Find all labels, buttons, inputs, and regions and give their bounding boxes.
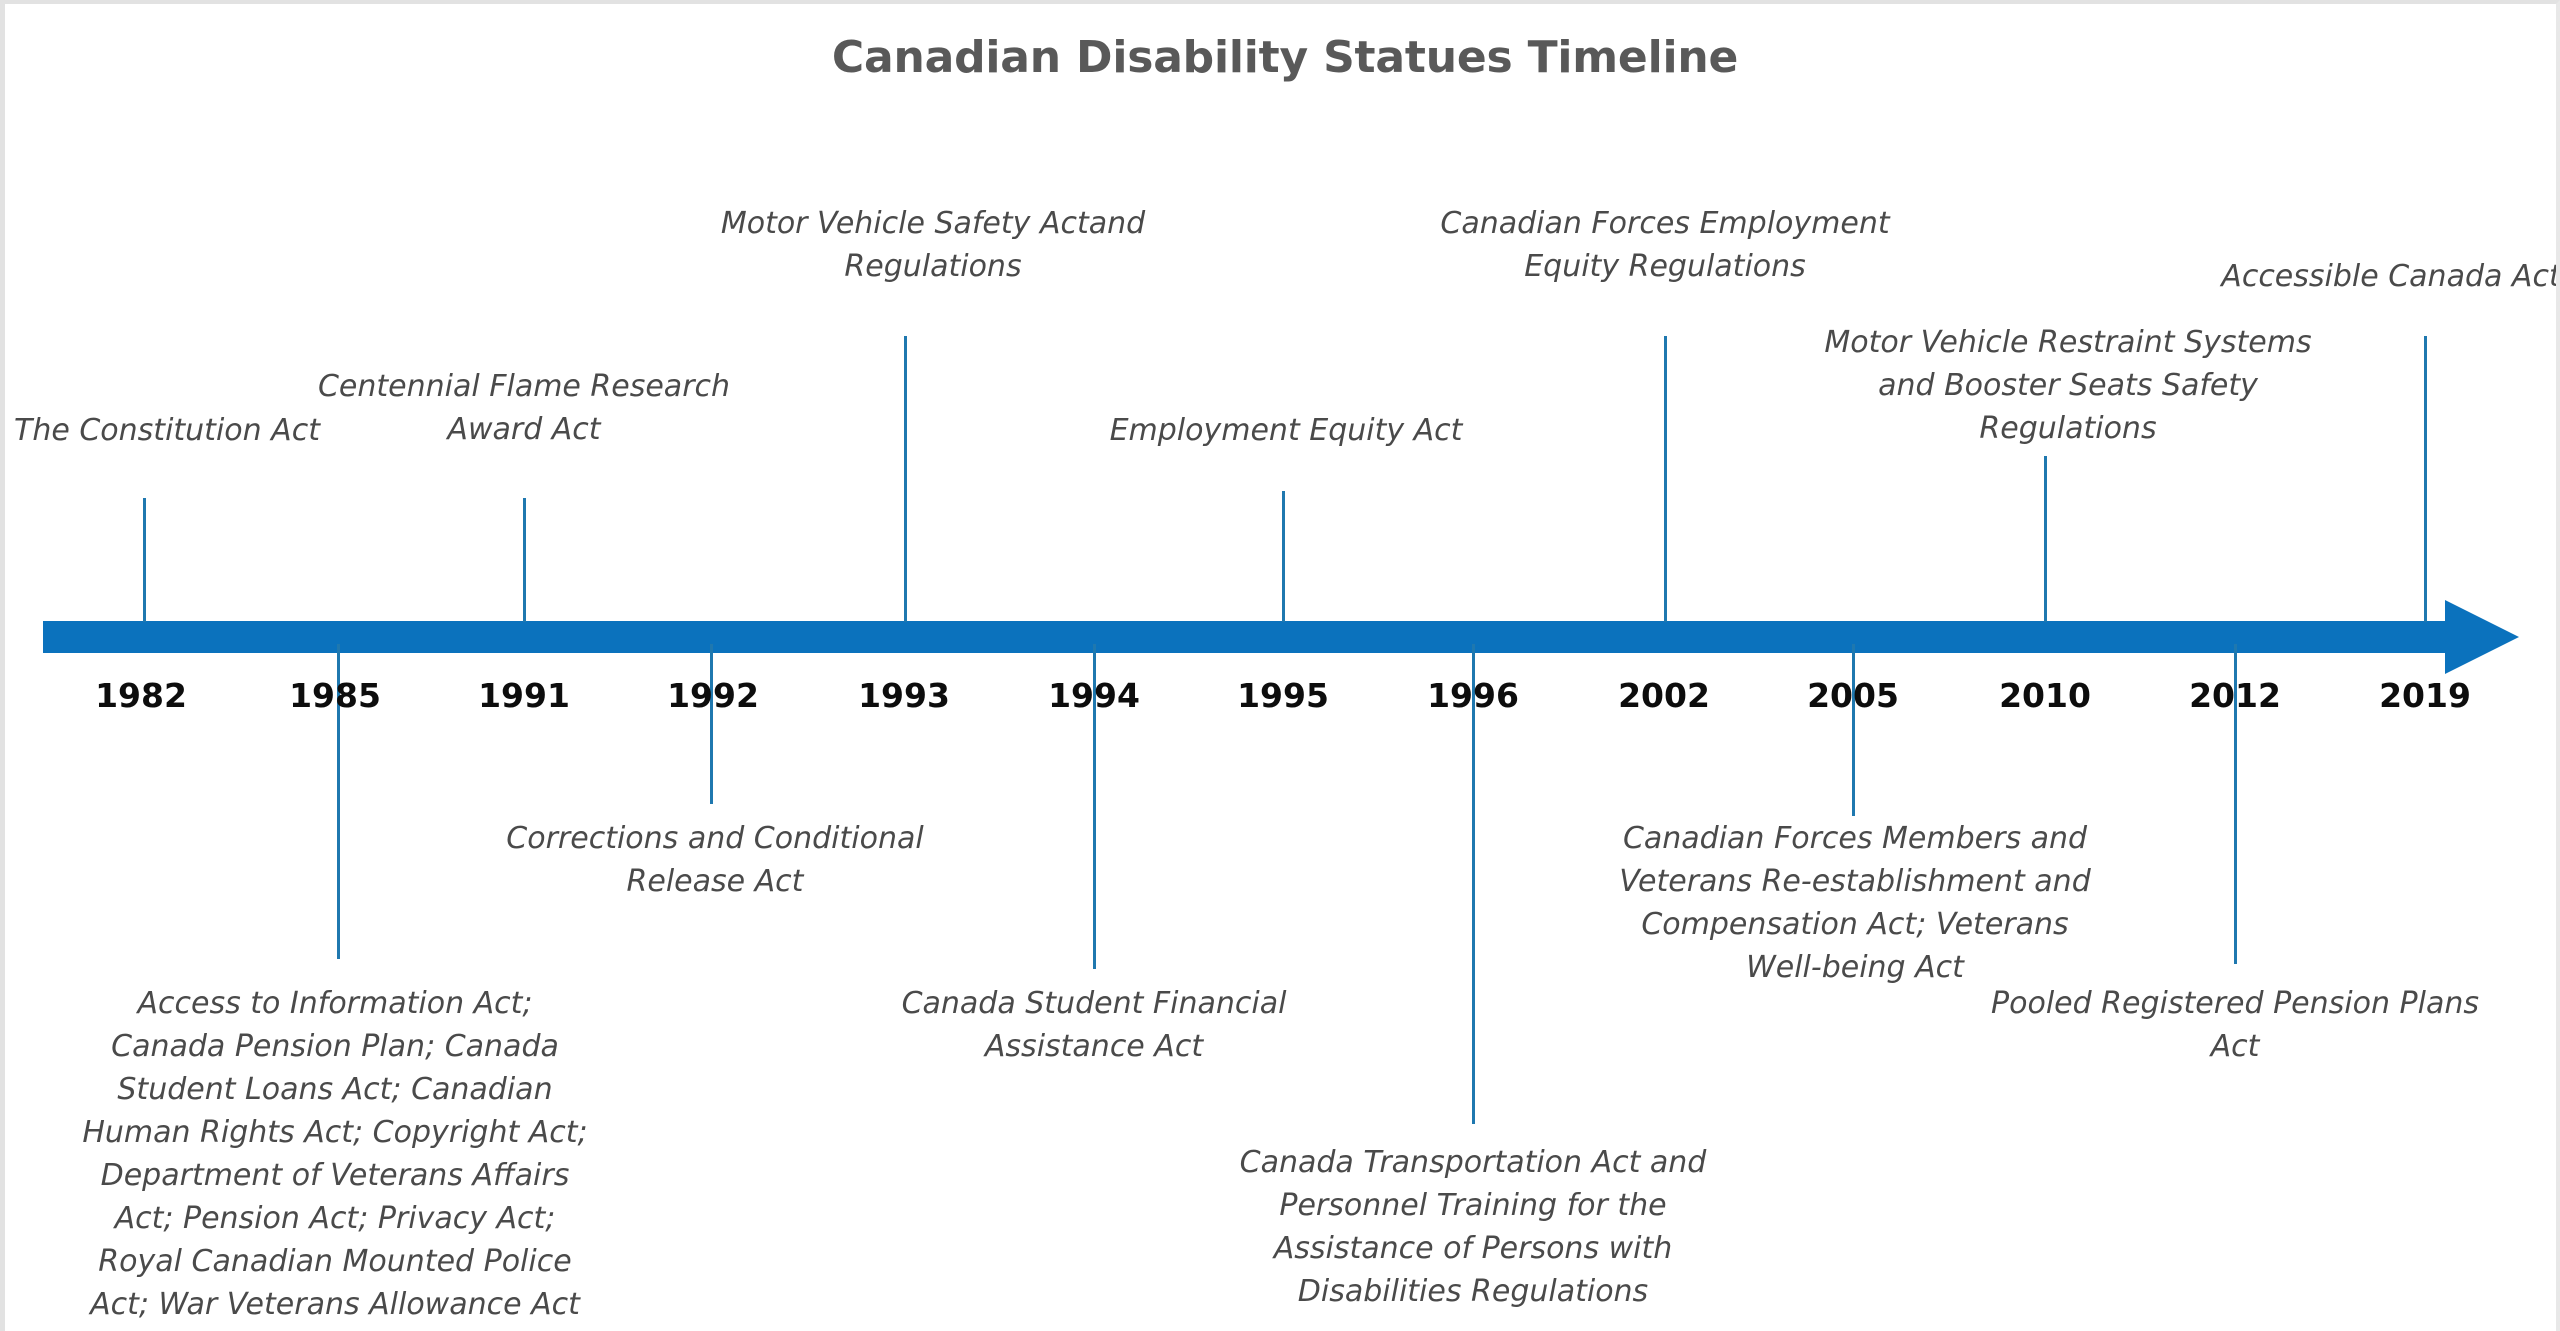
year-label-2010: 2010	[1999, 676, 2091, 715]
timeline-arrowhead-icon	[2445, 600, 2519, 674]
tick-line-2019	[2424, 336, 2427, 622]
tick-line-2005	[1852, 644, 1855, 816]
tick-line-1992	[710, 644, 713, 804]
year-label-1982: 1982	[95, 676, 187, 715]
event-label-1991: Centennial Flame Research Award Act	[284, 365, 764, 451]
timeline-bar	[43, 621, 2453, 653]
tick-line-2002	[1664, 336, 1667, 622]
event-label-1996: Canada Transportation Act and Personnel …	[1213, 1141, 1733, 1313]
tick-line-1982	[143, 498, 146, 622]
year-label-1995: 1995	[1237, 676, 1329, 715]
tick-line-1991	[523, 498, 526, 622]
event-label-1995: Employment Equity Act	[1046, 409, 1526, 452]
event-label-2010: Motor Vehicle Restraint Systems and Boos…	[1798, 321, 2338, 450]
year-label-1994: 1994	[1048, 676, 1140, 715]
tick-line-1995	[1282, 491, 1285, 622]
tick-line-2010	[2044, 456, 2047, 622]
event-label-2002: Canadian Forces Employment Equity Regula…	[1395, 202, 1935, 288]
year-label-1992: 1992	[667, 676, 759, 715]
year-label-2005: 2005	[1807, 676, 1899, 715]
year-label-1996: 1996	[1427, 676, 1519, 715]
year-label-1993: 1993	[858, 676, 950, 715]
year-label-2012: 2012	[2189, 676, 2281, 715]
event-label-1985: Access to Information Act; Canada Pensio…	[75, 982, 595, 1326]
event-label-1992: Corrections and Conditional Release Act	[465, 817, 965, 903]
year-label-2019: 2019	[2379, 676, 2471, 715]
event-label-2005: Canadian Forces Members and Veterans Re-…	[1585, 817, 2125, 989]
year-label-1991: 1991	[478, 676, 570, 715]
year-label-2002: 2002	[1618, 676, 1710, 715]
tick-line-1993	[904, 336, 907, 622]
event-label-1993: Motor Vehicle Safety Actand Regulations	[663, 202, 1203, 288]
event-label-2012: Pooled Registered Pension Plans Act	[1965, 982, 2505, 1068]
event-label-1994: Canada Student Financial Assistance Act	[844, 982, 1344, 1068]
page-title: Canadian Disability Statues Timeline	[5, 32, 2560, 83]
event-label-2019: Accessible Canada Act	[2171, 255, 2560, 298]
timeline-canvas: Canadian Disability Statues Timeline The…	[0, 0, 2560, 1331]
tick-line-1996	[1472, 644, 1475, 1124]
year-label-1985: 1985	[289, 676, 381, 715]
